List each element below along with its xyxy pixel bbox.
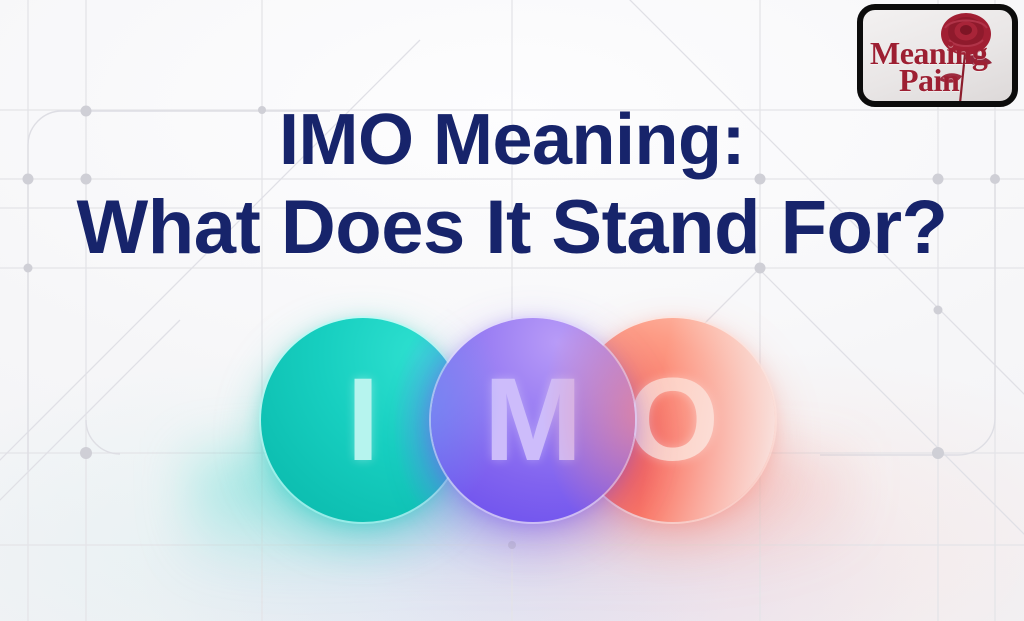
- site-watermark-logo: Meaning Pain: [857, 4, 1018, 107]
- imo-orb-group: I M O: [0, 318, 1024, 528]
- orb-glyph-o: O: [627, 361, 719, 479]
- page-title: IMO Meaning: What Does It Stand For?: [0, 104, 1024, 266]
- orb-letter-m: M: [431, 318, 635, 522]
- hero-banner: IMO Meaning: What Does It Stand For? I M…: [0, 0, 1024, 621]
- watermark-line-2: Pain: [899, 64, 959, 96]
- orb-glyph-m: M: [484, 361, 582, 479]
- title-line-primary: IMO Meaning:: [0, 104, 1024, 176]
- title-line-secondary: What Does It Stand For?: [0, 190, 1024, 266]
- logo-inner: Meaning Pain: [863, 10, 1012, 101]
- orb-glyph-i: I: [347, 361, 380, 479]
